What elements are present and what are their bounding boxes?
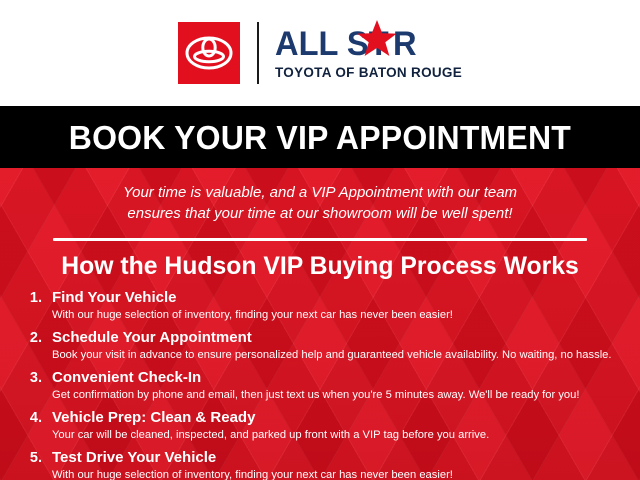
divider-rule bbox=[53, 238, 587, 241]
list-item: 5. Test Drive Your Vehicle With our huge… bbox=[0, 449, 640, 480]
vip-appointment-poster: ALL ST R TOYOTA OF BATON ROUGE BOOK YOUR… bbox=[0, 0, 640, 480]
step-title: Find Your Vehicle bbox=[52, 289, 453, 307]
content-panel: Your time is valuable, and a VIP Appoint… bbox=[0, 168, 640, 480]
step-title: Test Drive Your Vehicle bbox=[52, 449, 453, 467]
list-item: 2. Schedule Your Appointment Book your v… bbox=[0, 329, 640, 362]
list-item: 1. Find Your Vehicle With our huge selec… bbox=[0, 289, 640, 322]
step-title: Convenient Check-In bbox=[52, 369, 579, 387]
step-number: 1. bbox=[14, 289, 42, 307]
logo-divider bbox=[257, 22, 259, 84]
step-body: Find Your Vehicle With our huge selectio… bbox=[42, 289, 453, 322]
intro-text: Your time is valuable, and a VIP Appoint… bbox=[0, 182, 640, 224]
toyota-emblem-icon bbox=[178, 22, 240, 84]
list-item: 3. Convenient Check-In Get confirmation … bbox=[0, 369, 640, 402]
step-title: Vehicle Prep: Clean & Ready bbox=[52, 409, 489, 427]
step-body: Test Drive Your Vehicle With our huge se… bbox=[42, 449, 453, 480]
step-title: Schedule Your Appointment bbox=[52, 329, 612, 347]
logo-band: ALL ST R TOYOTA OF BATON ROUGE bbox=[0, 0, 640, 106]
headline-bar: BOOK YOUR VIP APPOINTMENT bbox=[0, 106, 640, 168]
step-body: Schedule Your Appointment Book your visi… bbox=[42, 329, 612, 362]
section-title: How the Hudson VIP Buying Process Works bbox=[3, 252, 637, 280]
dealer-logo: ALL ST R TOYOTA OF BATON ROUGE bbox=[178, 20, 462, 86]
red-star-icon bbox=[357, 19, 397, 59]
step-description: With our huge selection of inventory, fi… bbox=[52, 468, 453, 480]
step-body: Convenient Check-In Get confirmation by … bbox=[42, 369, 579, 402]
step-description: With our huge selection of inventory, fi… bbox=[52, 308, 453, 322]
intro-line-2: ensures that your time at our showroom w… bbox=[48, 203, 592, 224]
step-body: Vehicle Prep: Clean & Ready Your car wil… bbox=[42, 409, 489, 442]
allstar-text-after-star: R bbox=[393, 27, 417, 61]
steps-list: 1. Find Your Vehicle With our huge selec… bbox=[0, 289, 640, 480]
page-title: BOOK YOUR VIP APPOINTMENT bbox=[69, 121, 571, 154]
list-item: 4. Vehicle Prep: Clean & Ready Your car … bbox=[0, 409, 640, 442]
step-number: 3. bbox=[14, 369, 42, 387]
step-description: Your car will be cleaned, inspected, and… bbox=[52, 428, 489, 442]
step-description: Book your visit in advance to ensure per… bbox=[52, 348, 612, 362]
intro-line-1: Your time is valuable, and a VIP Appoint… bbox=[48, 182, 592, 203]
step-description: Get confirmation by phone and email, the… bbox=[52, 388, 579, 402]
step-number: 4. bbox=[14, 409, 42, 427]
step-number: 5. bbox=[14, 449, 42, 467]
step-number: 2. bbox=[14, 329, 42, 347]
allstar-word-row: ALL ST R bbox=[275, 26, 462, 62]
allstar-wordmark: ALL ST R TOYOTA OF BATON ROUGE bbox=[275, 26, 462, 80]
dealer-name: TOYOTA OF BATON ROUGE bbox=[275, 65, 462, 80]
